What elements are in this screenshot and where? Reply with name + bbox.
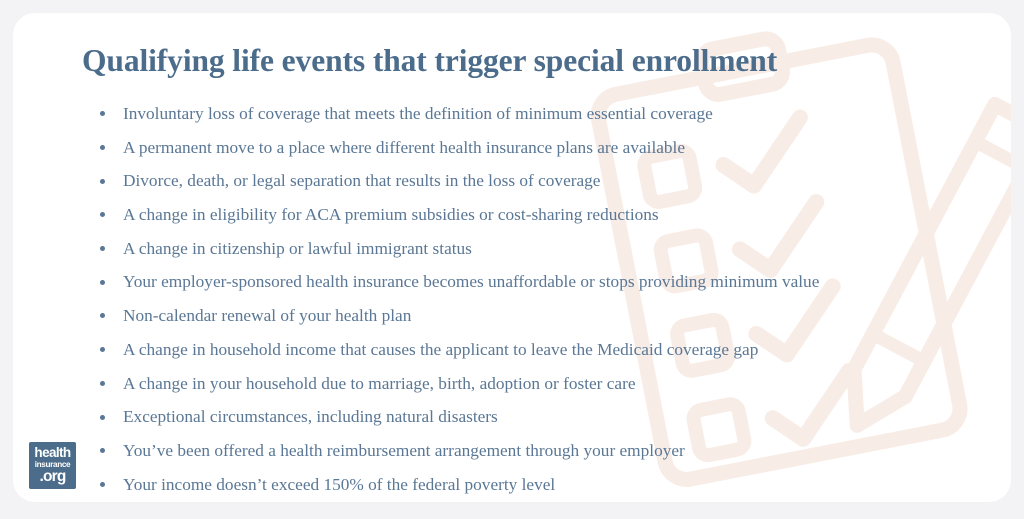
list-item-label: A change in eligibility for ACA premium …	[123, 198, 659, 232]
list-item: A change in your household due to marria…	[86, 367, 1011, 401]
list-item: Your employer-sponsored health insurance…	[86, 265, 1011, 299]
list-item-label: Divorce, death, or legal separation that…	[123, 164, 600, 198]
bullet-icon	[100, 415, 105, 420]
list-item-label: Your employer-sponsored health insurance…	[123, 265, 819, 299]
list-item: A change in eligibility for ACA premium …	[86, 198, 1011, 232]
logo-line-health: health	[33, 447, 72, 460]
list-item-label: Involuntary loss of coverage that meets …	[123, 97, 713, 131]
list-item-label: Your income doesn’t exceed 150% of the f…	[123, 468, 555, 502]
bullet-icon	[100, 448, 105, 453]
list-item-label: Exceptional circumstances, including nat…	[123, 400, 498, 434]
list-item-label: A permanent move to a place where differ…	[123, 131, 685, 165]
list-item-label: You’ve been offered a health reimburseme…	[123, 434, 685, 468]
list-item: You’ve been offered a health reimburseme…	[86, 434, 1011, 468]
list-item-label: Non-calendar renewal of your health plan	[123, 299, 411, 333]
bullet-icon	[100, 145, 105, 150]
list-item-label: A change in household income that causes…	[123, 333, 758, 367]
bullet-icon	[100, 347, 105, 352]
bullet-icon	[100, 111, 105, 116]
bullet-icon	[100, 179, 105, 184]
list-item: Your income doesn’t exceed 150% of the f…	[86, 468, 1011, 502]
list-item: A permanent move to a place where differ…	[86, 131, 1011, 165]
page-title: Qualifying life events that trigger spec…	[82, 42, 1002, 80]
logo-line-org: .org	[33, 469, 72, 484]
bullet-icon	[100, 313, 105, 318]
bullet-icon	[100, 381, 105, 386]
list-item: Non-calendar renewal of your health plan	[86, 299, 1011, 333]
bullet-icon	[100, 280, 105, 285]
bullet-icon	[100, 482, 105, 487]
list-item-label: A change in citizenship or lawful immigr…	[123, 232, 472, 266]
infographic-card: Qualifying life events that trigger spec…	[13, 13, 1011, 502]
list-item: Exceptional circumstances, including nat…	[86, 400, 1011, 434]
list-item: A change in citizenship or lawful immigr…	[86, 232, 1011, 266]
bullet-icon	[100, 246, 105, 251]
bullet-icon	[100, 212, 105, 217]
qualifying-life-events-list: Involuntary loss of coverage that meets …	[86, 97, 1011, 501]
list-item: A change in household income that causes…	[86, 333, 1011, 367]
list-item-label: A change in your household due to marria…	[123, 367, 636, 401]
list-item: Divorce, death, or legal separation that…	[86, 164, 1011, 198]
site-logo[interactable]: health insurance .org	[29, 442, 76, 489]
list-item: Involuntary loss of coverage that meets …	[86, 97, 1011, 131]
